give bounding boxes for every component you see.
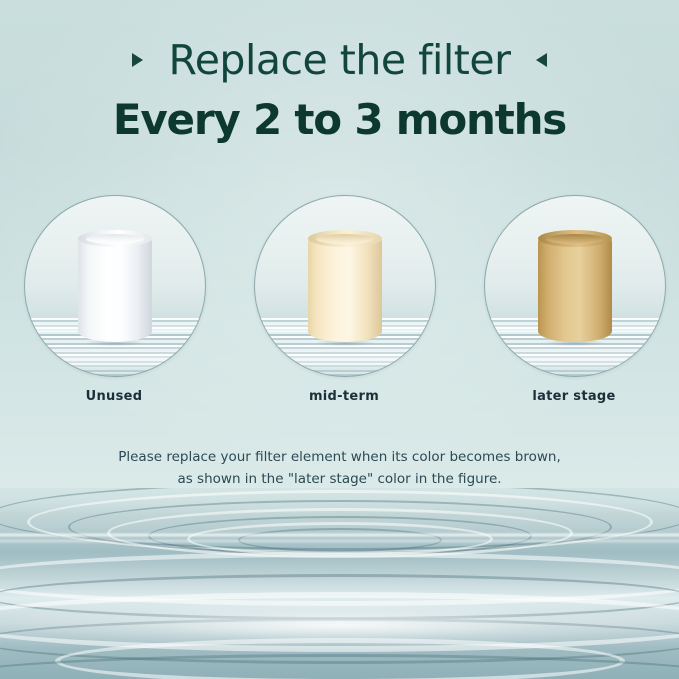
headline-block: Replace the filter Every 2 to 3 months — [0, 36, 679, 146]
infographic-canvas: Replace the filter Every 2 to 3 months — [0, 0, 679, 679]
ripple-ring — [0, 552, 679, 606]
cylinder-rim-inner — [86, 234, 144, 244]
filter-cylinder-unused — [78, 230, 152, 342]
stage-circle-mid-term — [254, 195, 436, 377]
circle-water-glow — [255, 346, 435, 376]
water-sheen — [0, 599, 679, 651]
cylinder-body — [78, 238, 152, 342]
water-top-fade — [0, 488, 679, 514]
stage-label-unused: Unused — [24, 389, 204, 404]
stage-label-mid-term: mid-term — [254, 389, 434, 404]
triangle-left-icon — [536, 53, 547, 67]
headline-row: Replace the filter — [0, 36, 679, 84]
stage-circle-later-stage — [484, 195, 666, 377]
stage-circle-unused — [24, 195, 206, 377]
instruction-line-1: Please replace your filter element when … — [0, 446, 679, 468]
page-title: Replace the filter — [169, 36, 511, 84]
page-subtitle: Every 2 to 3 months — [0, 94, 679, 146]
cylinder-rim-inner — [316, 234, 374, 244]
triangle-right-icon — [132, 53, 143, 67]
stage-labels-row: Unused mid-term later stage — [0, 389, 679, 409]
instruction-line-2: as shown in the "later stage" color in t… — [0, 468, 679, 490]
stage-label-later-stage: later stage — [484, 389, 664, 404]
circle-water-glow — [25, 346, 205, 376]
water-highlight-band — [0, 538, 679, 544]
cylinder-rim-inner — [546, 234, 604, 244]
filter-cylinder-mid-term — [308, 230, 382, 342]
ripple-ring — [0, 654, 679, 679]
cylinder-body — [308, 238, 382, 342]
circle-water-glow — [485, 346, 665, 376]
cylinder-body — [538, 238, 612, 342]
water-surface — [0, 488, 679, 679]
instruction-text: Please replace your filter element when … — [0, 446, 679, 490]
filter-cylinder-later-stage — [538, 230, 612, 342]
stage-circles-row — [0, 195, 679, 377]
